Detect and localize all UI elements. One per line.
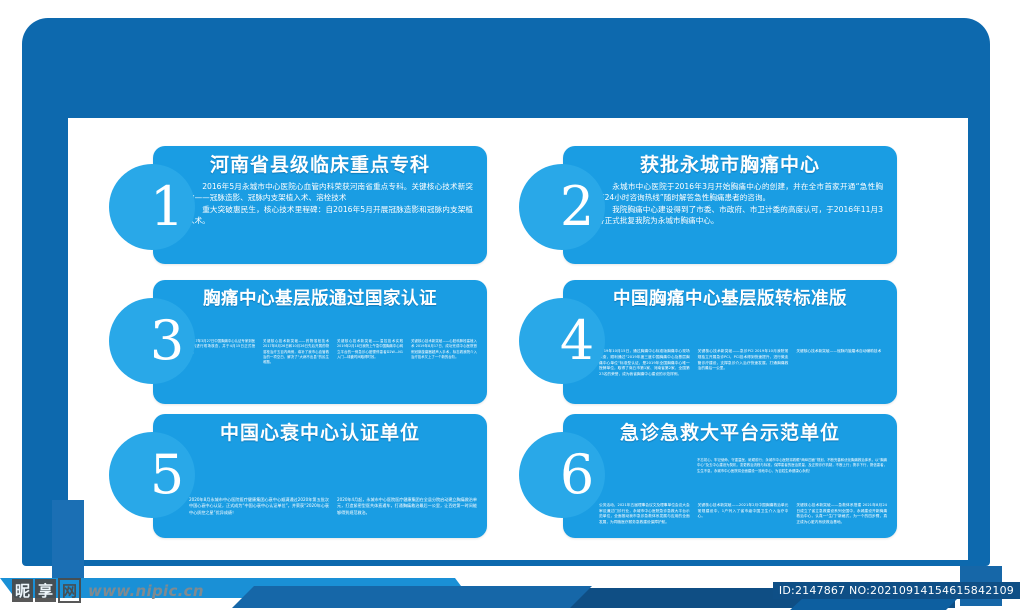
- panel-number-5: 5: [120, 448, 184, 502]
- panel-number-badge-1: 1: [109, 164, 195, 250]
- panel-column: 2020年8月永城市中心医院医疗健康集团心衰中心顺满通过2020年第五批次中国心…: [189, 497, 329, 517]
- panel-column: 关键核心技术新突破——急诊PCI 2019年10月我院常规独立开展急诊PCI，P…: [698, 349, 789, 378]
- panel-number-badge-5: 5: [109, 432, 195, 518]
- panel-column: 2020年4月起，永城市中心医院医疗健康集团在全县分院启动建立胸痛救治单元，打造…: [337, 497, 477, 517]
- panel-4[interactable]: 中国胸痛中心基层版转标准版 2019年10月15日，通过胸痛中心标准版胸痛中心现…: [563, 280, 897, 404]
- panel-5[interactable]: 中国心衰中心认证单位 2020年8月永城市中心医院医疗健康集团心衰中心顺满通过2…: [153, 414, 487, 538]
- panel-column: 2017年3月27日中国胸痛中心认证专家到医院内进行现场核查，并于4月15日正式…: [189, 339, 255, 365]
- panel-number-badge-6: 6: [519, 432, 605, 518]
- panel-number-2: 2: [530, 180, 594, 234]
- panel-column: 关键核心技术新突破——药物溶栓技术 2017年8月26日和10月26日先后开展药…: [263, 339, 329, 365]
- panel-title-6: 急诊急救大平台示范单位: [563, 414, 897, 445]
- panel-1[interactable]: 河南省县级临床重点专科 2016年5月永城市中心医院心血管内科荣获河南省重点专科…: [153, 146, 487, 264]
- panel-body-1: 2016年5月永城市中心医院心血管内科荣获河南省重点专科。关键核心技术新突破——…: [153, 177, 487, 233]
- panel-grid: 1 河南省县级临床重点专科 2016年5月永城市中心医院心血管内科荣获河南省重点…: [68, 118, 968, 560]
- panel-cell-2: 2 获批永城市胸痛中心 永城市中心医院于2016年3月开始胸痛中心的创建，并在全…: [563, 146, 897, 264]
- panel-title-4: 中国胸痛中心基层版转标准版: [563, 280, 897, 309]
- panel-number-3: 3: [120, 314, 184, 368]
- panel-number-6: 6: [530, 448, 594, 502]
- id-tag: ID:2147867 NO:20210914154615842109: [773, 582, 1020, 599]
- panel-column: 关键核心技术新突破——温控技术实践 2019年2月18日我院上午急中国胸痛中心网…: [337, 339, 403, 365]
- panel-title-2: 获批永城市胸痛中心: [563, 146, 897, 177]
- panel-number-1: 1: [120, 180, 184, 234]
- panel-3[interactable]: 胸痛中心基层版通过国家认证 2017年3月27日中国胸痛中心认证专家到医院内进行…: [153, 280, 487, 404]
- watermark-char-1: 昵: [12, 579, 33, 602]
- panel-column: 公务活动，2021年五届理事会议文及理事单位会议大会审议通过门诊行业，永城市中心…: [599, 503, 690, 526]
- panel-number-badge-4: 4: [519, 298, 605, 384]
- panel-cell-3: 3 胸痛中心基层版通过国家认证 2017年3月27日中国胸痛中心认证专家到医院内…: [153, 280, 487, 404]
- panel-body-2: 永城市中心医院于2016年3月开始胸痛中心的创建，并在全市首家开通“急性胸痛24…: [563, 177, 897, 233]
- panel-body-para: 2016年5月永城市中心医院心血管内科荣获河南省重点专科。关键核心技术新突破——…: [187, 181, 473, 204]
- panel-6[interactable]: 急诊急救大平台示范单位 不忘初心，牢记使命，守重温医，砥砺前行；永城市中心医院将…: [563, 414, 897, 538]
- panel-body-para: 重大突破惠民生，核心技术里程碑：自2016年5月开展冠脉造影和冠脉内支架植入术。: [187, 204, 473, 227]
- watermark-char-2: 享: [35, 579, 56, 602]
- panel-body-para: 永城市中心医院于2016年3月开始胸痛中心的创建，并在全市首家开通“急性胸痛24…: [597, 181, 883, 204]
- panel-cell-4: 4 中国胸痛中心基层版转标准版 2019年10月15日，通过胸痛中心标准版胸痛中…: [563, 280, 897, 404]
- panel-column: 2019年10月15日，通过胸痛中心标准版胸痛中心现场核查，顺利通过“2019年…: [599, 349, 690, 378]
- panel-column: 关键核心技术新突破——冠脉内旋磨术自动辅助技术: [796, 349, 887, 378]
- panel-title-1: 河南省县级临床重点专科: [153, 146, 487, 177]
- panel-columns-5: 2020年8月永城市中心医院医疗健康集团心衰中心顺满通过2020年第五批次中国心…: [153, 445, 487, 523]
- panel-cell-5: 5 中国心衰中心认证单位 2020年8月永城市中心医院医疗健康集团心衰中心顺满通…: [153, 414, 487, 538]
- panel-float-text-6: 不忘初心，牢记使命，守重温医，砥砺前行；永城市中心医院将着眼“两纵四面”规划，不…: [697, 458, 887, 474]
- watermark-char-3: 网: [58, 578, 81, 603]
- watermark-logo: 昵 享 网: [12, 578, 81, 603]
- panel-cell-6: 6 急诊急救大平台示范单位 不忘初心，牢记使命，守重温医，砥砺前行；永城市中心医…: [563, 414, 897, 538]
- panel-column: 关键核心技术新突破——2021年2月中国胸痛救治单元常规建设中，1户列入了省市级…: [698, 503, 789, 526]
- panel-body-para: 我院胸痛中心建设得到了市委、市政府、市卫计委的高度认可，于2016年11月3号正…: [597, 204, 883, 227]
- panel-title-3: 胸痛中心基层版通过国家认证: [153, 280, 487, 309]
- panel-column: 关键核心技术新突破——急救体系搭建 2021年8月24日成立了省立急救建设系列全…: [796, 503, 887, 526]
- decor-band-mid: [232, 586, 592, 608]
- panel-column: 关键核心技术新突破——心脏科肺栓塞植入术 2019年8月17日，成功完成中心医院…: [411, 339, 477, 365]
- panel-title-5: 中国心衰中心认证单位: [153, 414, 487, 445]
- panel-number-4: 4: [530, 314, 594, 368]
- panel-number-badge-3: 3: [109, 298, 195, 384]
- panel-number-badge-2: 2: [519, 164, 605, 250]
- panel-columns-3: 2017年3月27日中国胸痛中心认证专家到医院内进行现场核查，并于4月15日正式…: [153, 309, 487, 371]
- panel-columns-4: 2019年10月15日，通过胸痛中心标准版胸痛中心现场核查，顺利通过“2019年…: [563, 309, 897, 384]
- watermark: 昵 享 网 www.nipic.cn: [12, 578, 204, 603]
- panel-2[interactable]: 获批永城市胸痛中心 永城市中心医院于2016年3月开始胸痛中心的创建，并在全市首…: [563, 146, 897, 264]
- panel-cell-1: 1 河南省县级临床重点专科 2016年5月永城市中心医院心血管内科荣获河南省重点…: [153, 146, 487, 264]
- watermark-url: www.nipic.cn: [88, 582, 204, 600]
